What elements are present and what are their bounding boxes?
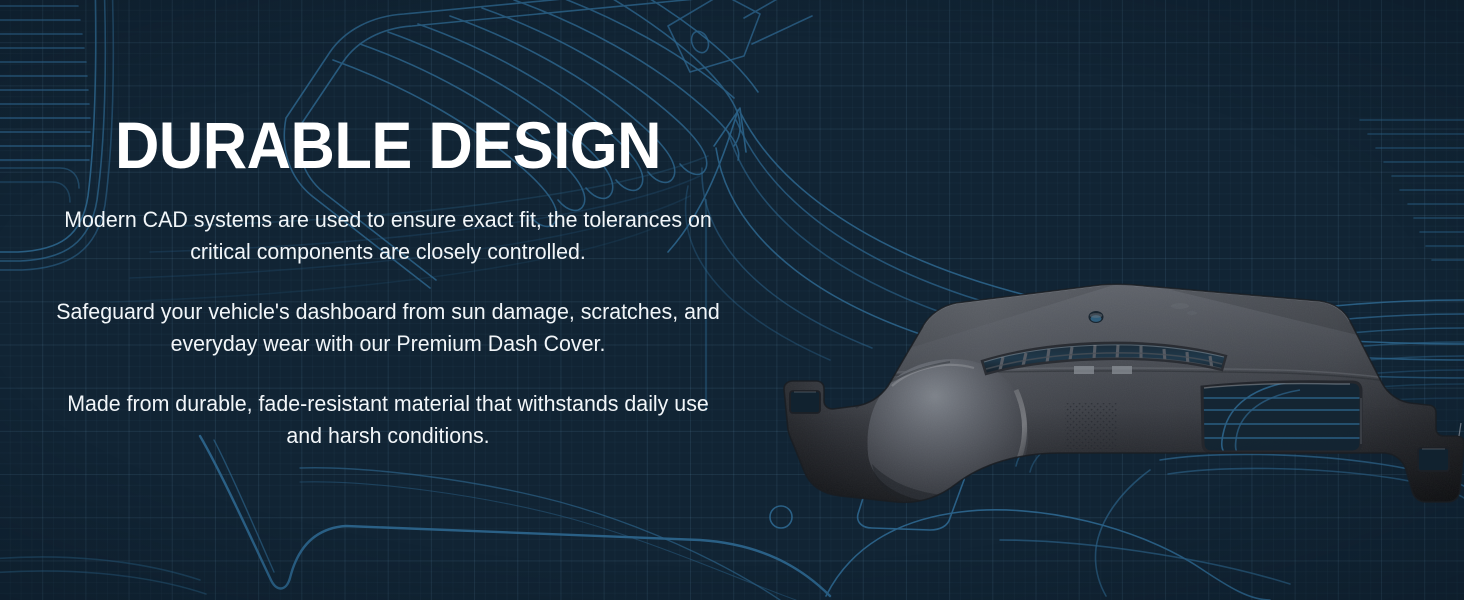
paragraph-1: Modern CAD systems are used to ensure ex… [50,204,726,268]
copy-block: DURABLE DESIGN Modern CAD systems are us… [32,112,744,452]
paragraph-2: Safeguard your vehicle's dashboard from … [50,296,726,360]
paragraph-list: Modern CAD systems are used to ensure ex… [32,204,744,452]
banner-root: DURABLE DESIGN Modern CAD systems are us… [0,0,1464,600]
page-title: DURABLE DESIGN [57,112,719,178]
product-image [760,258,1464,508]
paragraph-3: Made from durable, fade-resistant materi… [50,388,726,452]
